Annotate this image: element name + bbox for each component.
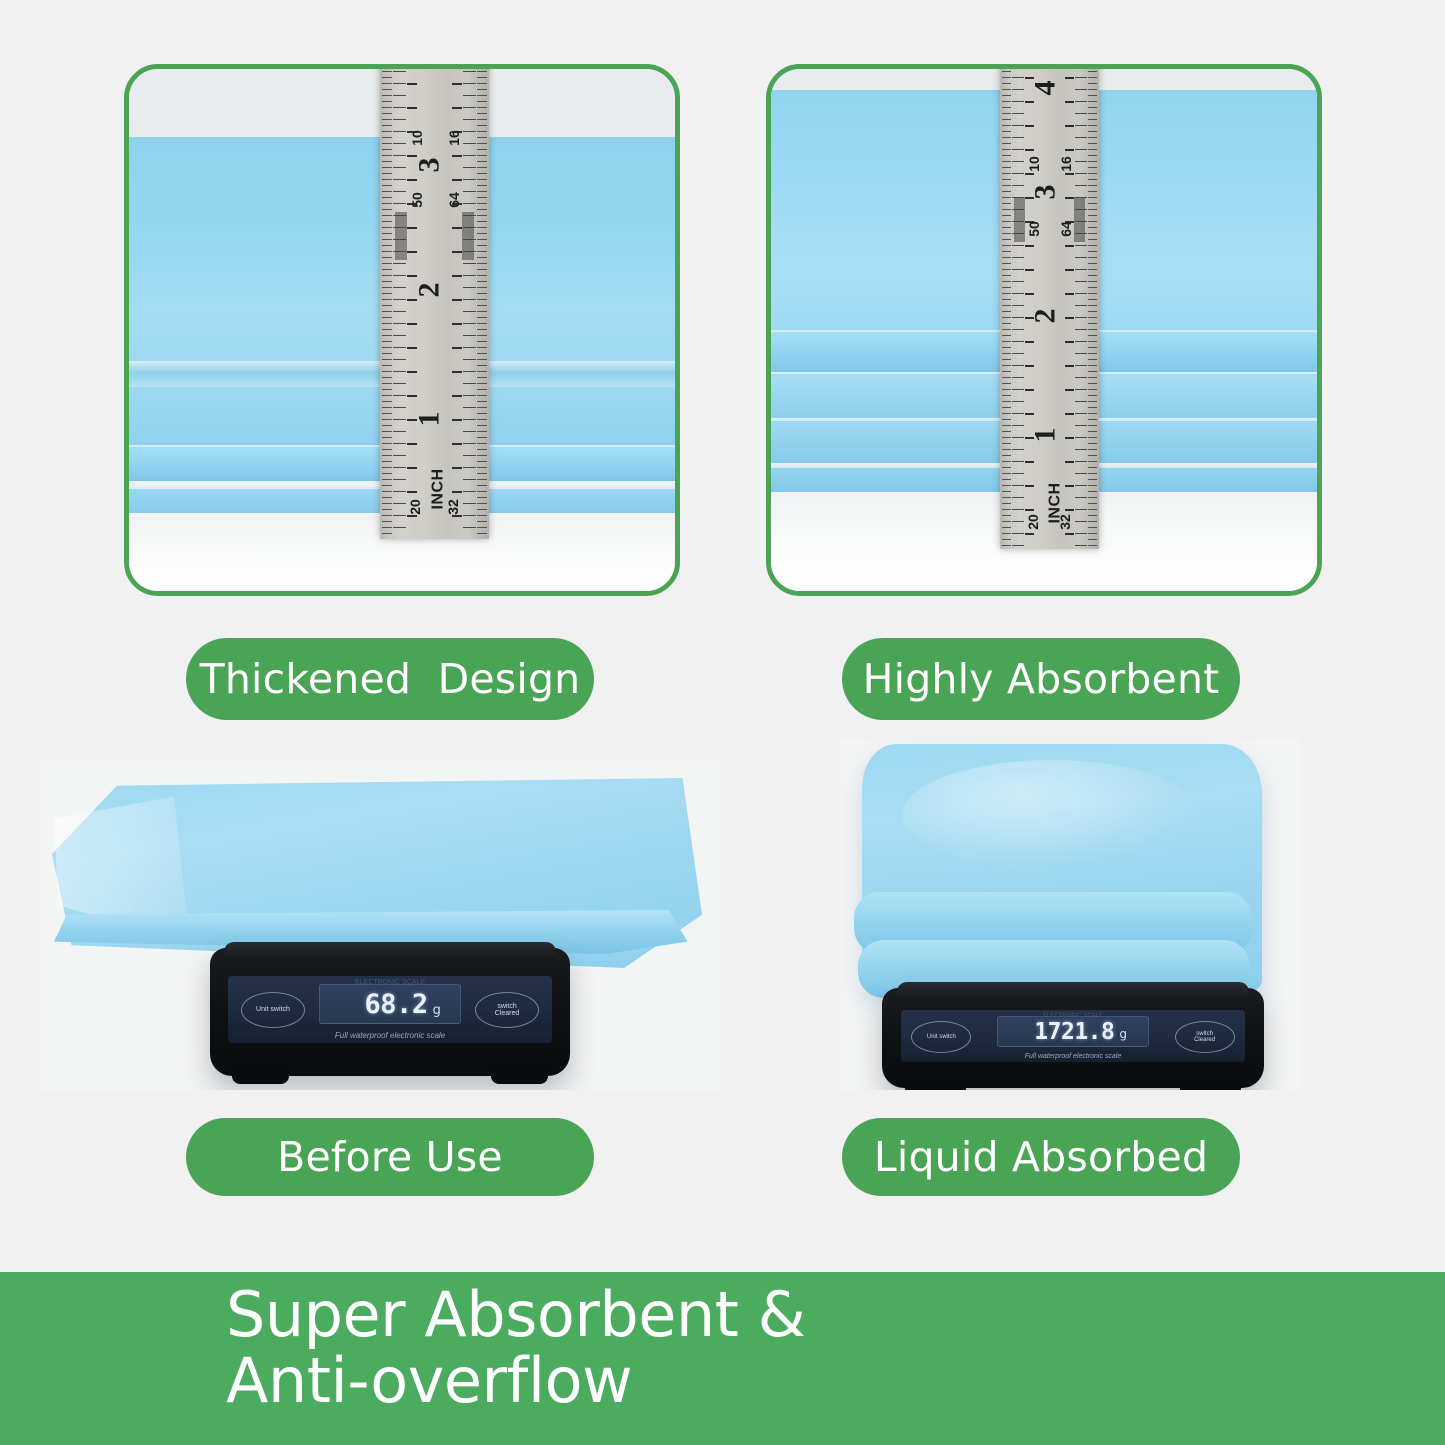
scale-reading-value: 68.2 xyxy=(365,989,428,1020)
ruler-scale-50: 50 xyxy=(409,192,423,208)
steel-ruler: 4 3 2 1 INCH 10 50 20 16 64 32 xyxy=(1000,69,1098,549)
ruler-inch-1: 1 xyxy=(414,412,444,427)
ruler-scale-64: 64 xyxy=(1059,221,1073,237)
ruler-inch-2: 2 xyxy=(414,282,444,297)
photo-liquid-absorbed: ELECTRONIC SCALE Unit switch 1721.8 g sw… xyxy=(840,740,1300,1090)
label-liquid-absorbed: Liquid Absorbed xyxy=(842,1118,1240,1196)
steel-ruler: 3 2 1 INCH 10 50 20 16 64 32 xyxy=(380,69,489,539)
ruler-inch-3: 3 xyxy=(1030,185,1060,200)
ruler-ticks-left xyxy=(1012,69,1024,549)
scale-cleared-label: Cleared xyxy=(495,1010,520,1017)
scale-reading-unit: g xyxy=(1119,1027,1127,1046)
scale-foot-right xyxy=(1180,1080,1241,1090)
ruler-marker-right xyxy=(1074,197,1085,242)
scale-caption-text: Full waterproof electronic scale xyxy=(901,1053,1245,1060)
scale-switch-cleared-button[interactable]: switch Cleared xyxy=(1175,1021,1235,1053)
ruler-inch-4: 4 xyxy=(1030,81,1060,96)
ruler-scale-20: 20 xyxy=(1026,514,1040,530)
ruler-face: 4 3 2 1 INCH 10 50 20 16 64 32 xyxy=(1000,69,1098,549)
banner-headline-line2: Anti-overflow xyxy=(226,1348,806,1414)
scale-cleared-label: Cleared xyxy=(1194,1037,1215,1043)
scale-display: 68.2 g xyxy=(319,984,462,1024)
scale-control-panel: ELECTRONIC SCALE Unit switch 68.2 g swit… xyxy=(228,976,552,1043)
ruler-ticks-right xyxy=(463,69,476,539)
ruler-scale-64: 64 xyxy=(447,192,461,208)
scale-unit-switch-button[interactable]: Unit switch xyxy=(241,992,305,1028)
photo-frame-thickened-design: 3 2 1 INCH 10 50 20 16 64 32 xyxy=(124,64,680,596)
ruler-ticks-outer-left xyxy=(1002,69,1011,549)
scale-caption-text: Full waterproof electronic scale xyxy=(228,1031,552,1040)
ruler-inch-2: 2 xyxy=(1030,309,1060,324)
ruler-inch-1: 1 xyxy=(1030,428,1060,443)
ruler-ticks-right xyxy=(1075,69,1087,549)
ruler-ticks-outer-right xyxy=(477,69,487,539)
ruler-scale-32: 32 xyxy=(446,500,460,516)
ruler-inch-3: 3 xyxy=(414,157,444,172)
product-infographic: 3 2 1 INCH 10 50 20 16 64 32 xyxy=(0,0,1445,1445)
ruler-scale-10: 10 xyxy=(409,130,423,146)
ruler-ticks-left xyxy=(393,69,406,539)
digital-scale-before: ELECTRONIC SCALE Unit switch 68.2 g swit… xyxy=(210,948,570,1076)
scale-display: 1721.8 g xyxy=(997,1016,1148,1047)
photo-frame-highly-absorbent: 4 3 2 1 INCH 10 50 20 16 64 32 xyxy=(766,64,1322,596)
scale-switch-cleared-button[interactable]: switch Cleared xyxy=(475,992,539,1028)
scale-reading-unit: g xyxy=(433,1003,441,1023)
scale-switch-label: switch xyxy=(497,1003,516,1010)
ruler-scale-16: 16 xyxy=(1059,157,1073,173)
label-thickened-design: Thickened Design xyxy=(186,638,594,720)
ruler-marker-right xyxy=(462,212,474,260)
scale-control-panel: ELECTRONIC SCALE Unit switch 1721.8 g sw… xyxy=(901,1010,1245,1062)
ruler-marker-left xyxy=(395,212,407,260)
scale-foot-left xyxy=(232,1068,290,1084)
scale-foot-right xyxy=(491,1068,549,1084)
bottom-banner: Super Absorbent & Anti-overflow xyxy=(0,1272,1445,1445)
scale-unit-switch-button[interactable]: Unit switch xyxy=(911,1021,971,1053)
scale-weighing-plate xyxy=(224,942,555,960)
scale-reading-value: 1721.8 xyxy=(1034,1019,1114,1045)
digital-scale-after: ELECTRONIC SCALE Unit switch 1721.8 g sw… xyxy=(882,988,1264,1088)
ruler-scale-50: 50 xyxy=(1027,221,1041,237)
photo-before-use: ELECTRONIC SCALE Unit switch 68.2 g swit… xyxy=(40,760,720,1090)
underpad-highlight xyxy=(902,760,1202,870)
ruler-ticks-outer-right xyxy=(1088,69,1097,549)
photo-highly-absorbent: 4 3 2 1 INCH 10 50 20 16 64 32 xyxy=(771,69,1317,591)
label-before-use: Before Use xyxy=(186,1118,594,1196)
ruler-ticks-right-coarse xyxy=(1065,69,1074,549)
ruler-marker-left xyxy=(1014,197,1025,242)
ruler-scale-16: 16 xyxy=(447,130,461,146)
banner-headline: Super Absorbent & Anti-overflow xyxy=(226,1282,806,1415)
banner-headline-line1: Super Absorbent & xyxy=(226,1278,806,1351)
label-highly-absorbent: Highly Absorbent xyxy=(842,638,1240,720)
ruler-face: 3 2 1 INCH 10 50 20 16 64 32 xyxy=(380,69,489,539)
ruler-ticks-outer-left xyxy=(382,69,392,539)
ruler-scale-20: 20 xyxy=(408,500,422,516)
photo-thickened-design: 3 2 1 INCH 10 50 20 16 64 32 xyxy=(129,69,675,591)
ruler-scale-32: 32 xyxy=(1058,514,1072,530)
scale-foot-left xyxy=(905,1080,966,1090)
scale-weighing-plate xyxy=(897,982,1248,1000)
ruler-scale-10: 10 xyxy=(1027,157,1041,173)
